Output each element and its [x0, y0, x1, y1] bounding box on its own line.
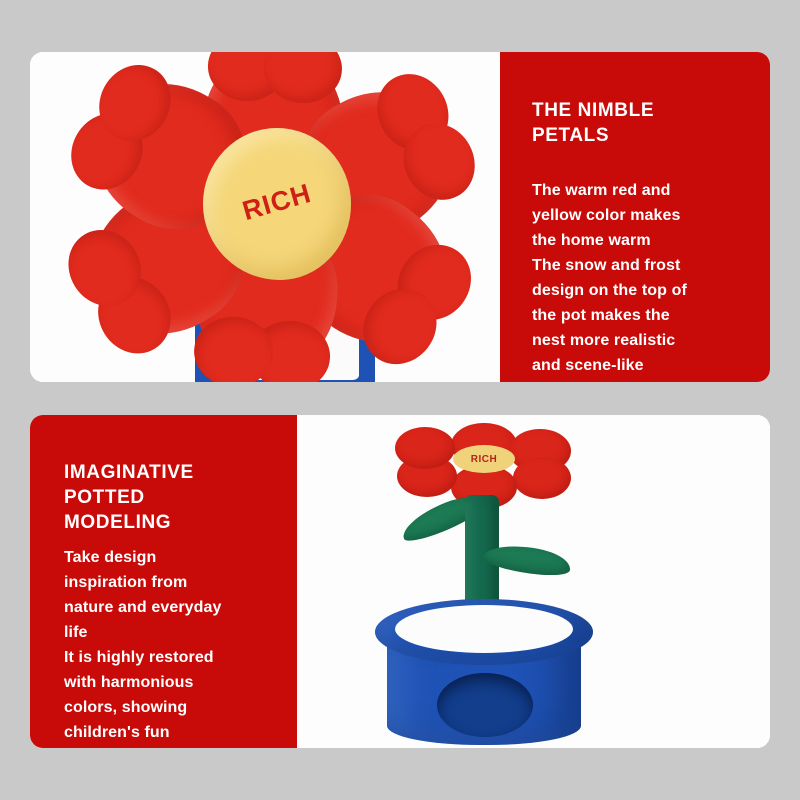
potted-flower-photo: RICH [297, 415, 770, 748]
nimble-petals-text-pane: THE NIMBLE PETALS The warm red and yello… [500, 52, 770, 382]
pot-cave-opening [437, 673, 533, 737]
flower-pot [375, 599, 593, 747]
flower-center-disc: RICH [203, 128, 351, 280]
potted-modeling-text-pane: IMAGINATIVE POTTED MODELING Take design … [30, 415, 297, 748]
flower-center-label: RICH [239, 177, 315, 226]
pot-snow-shape [395, 605, 573, 653]
mini-petal-3 [513, 457, 571, 499]
mini-flower-center-disc: RICH [453, 445, 515, 473]
imaginative-potted-modeling-card: IMAGINATIVE POTTED MODELING Take design … [30, 415, 770, 748]
nimble-petals-description: The warm red and yellow color makes the … [532, 178, 748, 378]
potted-plant-graphic: RICH [355, 423, 615, 741]
nimble-petals-card: RICH THE NIMBLE PETALS The warm red and … [30, 52, 770, 382]
potted-modeling-description: Take design inspiration from nature and … [64, 545, 282, 745]
mini-petal-6 [395, 427, 455, 469]
page-title: THE NIMBLE PETALS [532, 98, 747, 148]
mini-flower-center-label: RICH [471, 454, 497, 465]
section-title: IMAGINATIVE POTTED MODELING [64, 460, 279, 535]
flower-closeup-photo: RICH [30, 52, 500, 382]
flower-graphic: RICH [75, 52, 475, 382]
infographic-stage: RICH THE NIMBLE PETALS The warm red and … [0, 0, 800, 800]
